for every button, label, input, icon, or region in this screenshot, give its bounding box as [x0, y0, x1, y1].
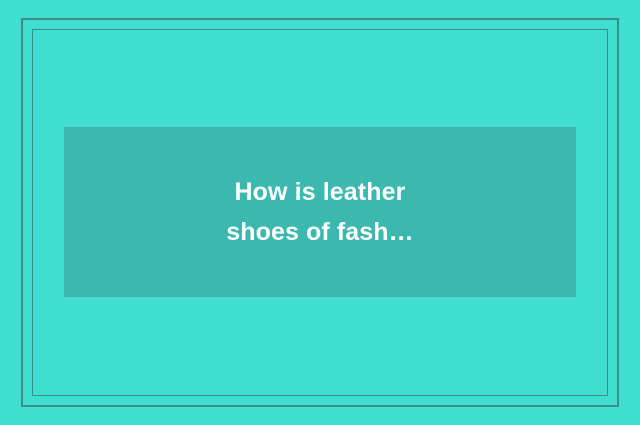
caption-panel: How is leather shoes of fash… [64, 127, 576, 297]
caption-text: How is leather shoes of fash… [226, 172, 414, 252]
placeholder-card: How is leather shoes of fash… [0, 0, 640, 425]
